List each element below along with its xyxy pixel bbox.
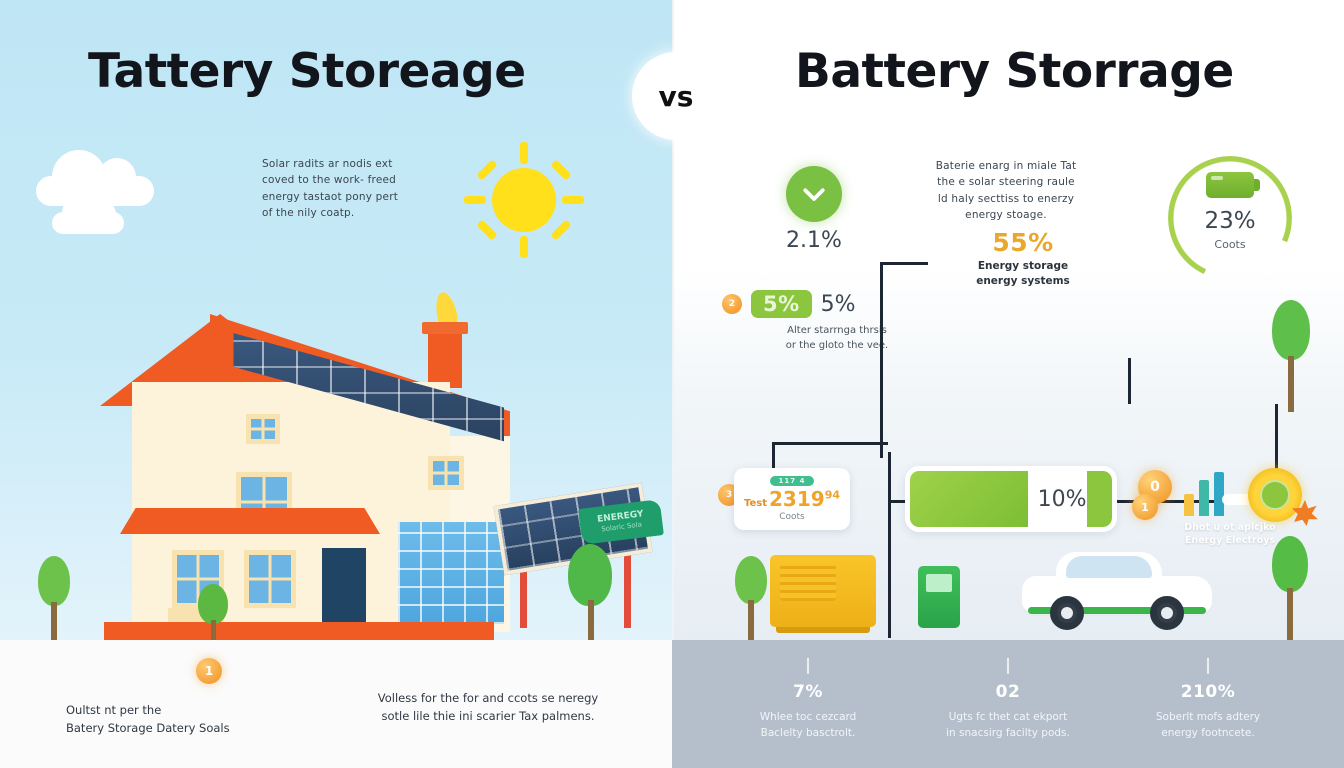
- electric-car-icon: [1022, 548, 1212, 630]
- highlight-stat: 55% Energy storage energy systems: [963, 228, 1083, 288]
- window: [246, 414, 280, 444]
- footer-tick: [807, 658, 809, 674]
- battery-icon: [1206, 172, 1254, 198]
- capacity-card: 10%: [905, 466, 1117, 532]
- footer-tick: [1007, 658, 1009, 674]
- front-door: [322, 548, 366, 624]
- tree-icon: [34, 556, 74, 640]
- pill-stat-value: 5%: [751, 290, 812, 318]
- cost-stat-card: 117 4 Test231994 Coots: [734, 468, 850, 530]
- card-value-prefix: Test: [744, 498, 767, 509]
- award-badge-icon: [1248, 468, 1302, 522]
- card-caption: Coots: [779, 512, 805, 522]
- check-badge-icon: [786, 166, 842, 222]
- footer-step-dot-1: 1: [196, 658, 222, 684]
- footer-column-2: 210% Soberlt mofs adtery energy footncet…: [1118, 658, 1298, 742]
- tree-icon: [732, 556, 770, 640]
- connector-line: [1128, 358, 1131, 404]
- infographic-canvas: Solar radits ar nodis ext coved to the w…: [0, 0, 1344, 768]
- pill-stat-group: 2 5% 5% Alter starrnga thrsis or the glo…: [722, 290, 932, 318]
- footer-caption-2: Soberlt mofs adtery energy footncete.: [1118, 710, 1298, 742]
- pill-stat-caption: Alter starrnga thrsis or the gloto the v…: [742, 324, 932, 353]
- left-description-text: Solar radits ar nodis ext coved to the w…: [262, 156, 412, 221]
- card-value-sup: 94: [825, 488, 840, 501]
- wall-solar-panel: [398, 522, 504, 624]
- donut-chart: 23% Coots: [1168, 156, 1292, 280]
- footer-column-1: 02 Ugts fc thet cat ekport in snacsirg f…: [918, 658, 1098, 742]
- vs-badge: vs: [632, 52, 720, 140]
- pill-stat-value-plain: 5%: [821, 292, 856, 317]
- footer-value-0: 7%: [718, 682, 898, 702]
- card-value-row: Test231994: [744, 487, 840, 511]
- donut-caption: Coots: [1168, 238, 1292, 251]
- tree-icon: [1268, 300, 1314, 412]
- highlight-stat-caption: Energy storage energy systems: [963, 259, 1083, 288]
- connector-line: [888, 452, 891, 638]
- generator-icon: [770, 555, 876, 627]
- connector-line: [880, 262, 928, 265]
- coin-icon-1: 1: [1132, 494, 1158, 520]
- footer-caption-1: Ugts fc thet cat ekport in snacsirg faci…: [918, 710, 1098, 742]
- connector-line: [880, 262, 883, 458]
- awning: [120, 508, 380, 534]
- check-stat-value: 2.1%: [766, 228, 862, 253]
- left-footer-text-2: Volless for the for and ccots se neregy …: [368, 690, 608, 726]
- right-footer: 7% Whlee toc cezcard Baclelty basctrolt.…: [672, 640, 1344, 768]
- left-footer-text-1: Oultst nt per the Batery Storage Datery …: [66, 702, 296, 738]
- cloud-icon: [36, 176, 154, 206]
- card-value: 2319: [769, 487, 825, 511]
- tree-icon: [1268, 536, 1312, 640]
- highlight-stat-value: 55%: [963, 228, 1083, 257]
- tree-icon: [560, 544, 616, 640]
- footer-value-1: 02: [918, 682, 1098, 702]
- capacity-value: 10%: [1038, 487, 1087, 512]
- right-description-text: Baterie enarg in miale Tat the e solar s…: [935, 158, 1077, 223]
- sun-icon: [474, 150, 574, 250]
- left-title: Tattery Storeage: [88, 44, 526, 99]
- house-illustration: [60, 286, 510, 640]
- card-badge: 117 4: [770, 476, 815, 486]
- cloud-icon: [52, 212, 124, 234]
- ev-charger-icon: [918, 566, 960, 628]
- donut-value: 23%: [1168, 208, 1292, 234]
- footer-value-2: 210%: [1118, 682, 1298, 702]
- window: [244, 550, 296, 608]
- window: [428, 456, 464, 490]
- tree-icon: [196, 584, 230, 642]
- right-title: Battery Storrage: [795, 44, 1234, 99]
- footer-tick: [1207, 658, 1209, 674]
- footer-caption-0: Whlee toc cezcard Baclelty basctrolt.: [718, 710, 898, 742]
- capacity-fill: [910, 471, 1028, 527]
- chimney: [428, 328, 462, 388]
- step-dot-2: 2: [722, 294, 742, 314]
- footer-column-0: 7% Whlee toc cezcard Baclelty basctrolt.: [718, 658, 898, 742]
- connector-line: [772, 442, 888, 445]
